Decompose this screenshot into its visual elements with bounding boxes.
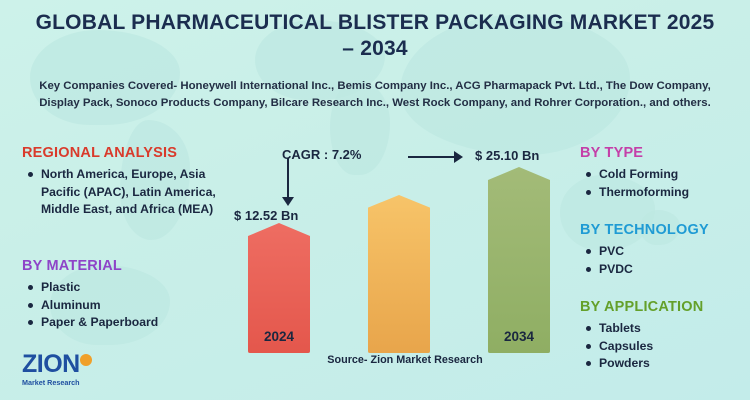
- section-heading-by-technology: BY TECHNOLOGY: [580, 222, 745, 238]
- list-item: Paper & Paperboard: [39, 314, 237, 332]
- section-by-technology: BY TECHNOLOGY PVC PVDC: [580, 222, 745, 278]
- logo-subtitle: Market Research: [22, 378, 118, 387]
- by-material-list: Plastic Aluminum Paper & Paperboard: [22, 279, 237, 332]
- source-note: Source- Zion Market Research: [240, 354, 570, 366]
- cagr-label: CAGR : 7.2%: [282, 147, 361, 162]
- bar-year-label-2034: 2034: [488, 329, 550, 344]
- list-item: Plastic: [39, 279, 237, 297]
- list-item: PVC: [597, 243, 745, 261]
- list-item: North America, Europe, Asia Pacific (APA…: [39, 166, 237, 219]
- key-companies-text: Key Companies Covered- Honeywell Interna…: [34, 78, 716, 112]
- down-arrow-icon: [287, 158, 289, 200]
- logo-wordmark: ZION: [22, 352, 118, 377]
- cagr-arrow-icon: [408, 156, 456, 158]
- list-item: Thermoforming: [597, 184, 745, 202]
- by-application-list: Tablets Capsules Powders: [580, 320, 745, 373]
- zion-logo: ZION Market Research: [22, 352, 118, 387]
- section-by-type: BY TYPE Cold Forming Thermoforming: [580, 145, 745, 201]
- bar-2034: 2034: [488, 167, 550, 353]
- section-heading-regional-analysis: REGIONAL ANALYSIS: [22, 145, 237, 161]
- regional-analysis-list: North America, Europe, Asia Pacific (APA…: [22, 166, 237, 219]
- list-item: Powders: [597, 355, 745, 373]
- logo-dot-icon: [80, 354, 92, 366]
- section-heading-by-application: BY APPLICATION: [580, 299, 745, 315]
- cagr-arrow-head-icon: [454, 151, 463, 163]
- page-title: GLOBAL PHARMACEUTICAL BLISTER PACKAGING …: [28, 10, 722, 62]
- bar-chart: CAGR : 7.2% $ 12.52 Bn $ 25.10 Bn 2024 2…: [240, 140, 570, 385]
- bar-middle: [368, 195, 430, 353]
- list-item: Aluminum: [39, 297, 237, 315]
- section-by-application: BY APPLICATION Tablets Capsules Powders: [580, 299, 745, 373]
- by-type-list: Cold Forming Thermoforming: [580, 166, 745, 201]
- section-by-material: BY MATERIAL Plastic Aluminum Paper & Pap…: [22, 258, 237, 332]
- down-arrow-head-icon: [282, 197, 294, 206]
- section-heading-by-type: BY TYPE: [580, 145, 745, 161]
- by-technology-list: PVC PVDC: [580, 243, 745, 278]
- bar-2024: 2024: [248, 223, 310, 353]
- list-item: Cold Forming: [597, 166, 745, 184]
- infographic-canvas: GLOBAL PHARMACEUTICAL BLISTER PACKAGING …: [0, 0, 750, 400]
- section-regional-analysis: REGIONAL ANALYSIS North America, Europe,…: [22, 145, 237, 219]
- value-label-2024: $ 12.52 Bn: [234, 208, 298, 223]
- list-item: Tablets: [597, 320, 745, 338]
- list-item: PVDC: [597, 261, 745, 279]
- section-heading-by-material: BY MATERIAL: [22, 258, 237, 274]
- list-item: Capsules: [597, 338, 745, 356]
- value-label-2034: $ 25.10 Bn: [475, 148, 539, 163]
- bar-year-label-2024: 2024: [248, 329, 310, 344]
